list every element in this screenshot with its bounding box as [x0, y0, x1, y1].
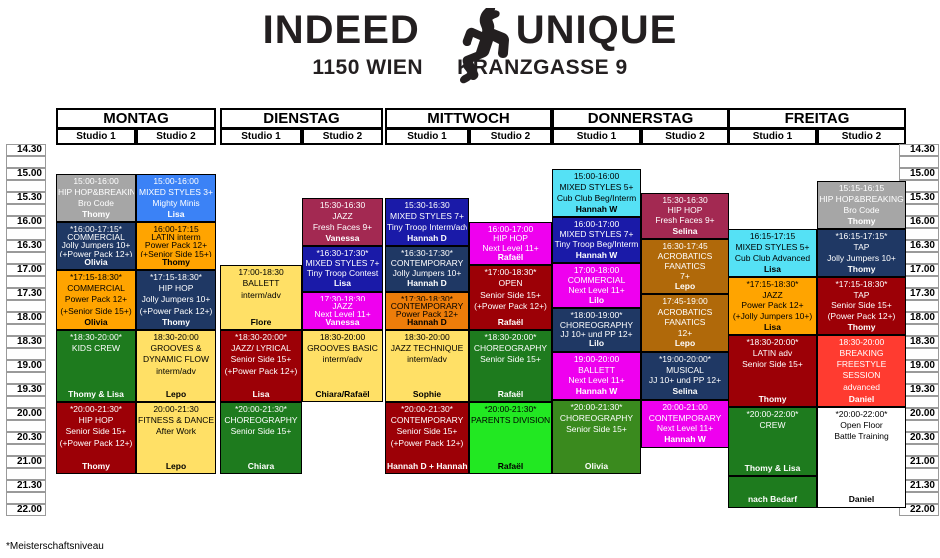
class-block[interactable]: 15:30-16:30HIP HOPFresh Faces 9+Selina: [641, 193, 729, 239]
time-label-21-30: 21.30: [6, 480, 46, 492]
time-label-19-30: 19.30: [6, 384, 46, 396]
class-time: 17:30-18:30: [304, 294, 381, 302]
class-block[interactable]: *20:00-21:30*CHOREOGRAPHYSenior Side 15+…: [552, 400, 641, 474]
class-teacher: Thomy: [819, 216, 904, 227]
class-title: COMMERCIAL: [58, 232, 134, 240]
class-teacher: Vanessa: [304, 233, 381, 244]
class-detail: (+Power Pack 12+): [138, 306, 214, 317]
class-block[interactable]: nach Bedarf: [728, 476, 817, 507]
class-detail: FANATICS: [643, 317, 727, 328]
class-time: *16:30-17:30*: [304, 248, 381, 258]
class-title: JAZZ: [304, 301, 381, 309]
class-detail: Jolly Jumpers 10+: [58, 240, 134, 248]
class-teacher: Chiara/Rafaël: [304, 389, 381, 400]
class-teacher: Lisa: [138, 209, 214, 220]
time-label-16-30: 16.30: [6, 240, 46, 252]
class-block[interactable]: *18:30-20:00*CHOREOGRAPHYSenior Side 15+…: [469, 330, 552, 402]
class-teacher: Lepo: [138, 389, 214, 400]
class-time: 18:30-20:00: [304, 332, 381, 343]
time-label-16-00: 16.00: [6, 216, 46, 228]
time-gap-cell: .: [6, 348, 46, 360]
class-time: 15:15-16:15: [819, 183, 904, 194]
class-title: KIDS CREW: [58, 343, 134, 354]
class-teacher: Lisa: [730, 264, 815, 275]
class-block[interactable]: *17:15-18:30*JAZZPower Pack 12+(+Jolly J…: [728, 277, 817, 335]
logo-title-left: INDEED: [263, 8, 420, 52]
class-teacher: Thomy: [58, 461, 134, 472]
class-block[interactable]: 16:00-17:00MIXED STYLES 7+Tiny Troop Beg…: [552, 217, 641, 263]
class-detail: (+Power Pack 12+): [471, 301, 550, 312]
time-gap-cell: .: [6, 156, 46, 168]
class-title: CONTEMPORARY: [643, 413, 727, 424]
class-block[interactable]: *20:00-22:00*CREWThomy & Lisa: [728, 407, 817, 477]
class-time: *20:00-22:00*: [819, 409, 904, 420]
time-label-18-30: 18.30: [6, 336, 46, 348]
class-block[interactable]: 17:45-19:00ACROBATICSFANATICS12+Lepo: [641, 294, 729, 352]
class-time: 19:00-20:00: [554, 354, 639, 365]
class-teacher: nach Bedarf: [730, 494, 815, 505]
class-time: *18:30-20:00*: [471, 332, 550, 343]
class-time: *19:00-20:00*: [643, 354, 727, 365]
class-title: HIP HOP&BREAKING: [819, 194, 904, 205]
studio-header-freitag-studio1: Studio 1: [728, 128, 817, 145]
time-label-14-30: 14.30: [6, 144, 46, 156]
class-time: *16:00-17:15*: [58, 224, 134, 232]
class-detail: JJ 10+ und PP 12+: [643, 375, 727, 386]
class-detail: JJ 10+ und PP 12+: [554, 329, 639, 338]
class-time: *17:00-18:30*: [471, 267, 550, 278]
class-title: JAZZ TECHNIQUE: [387, 343, 467, 354]
class-title: TAP: [819, 290, 904, 301]
schedule-page: INDEEDUNIQUE 1150 WIENKRANZGASSE 9 MONTA…: [0, 0, 940, 558]
class-title: GROOVES &: [138, 343, 214, 354]
class-detail: Next Level 11+: [554, 285, 639, 295]
class-block[interactable]: 15:30-16:30JAZZFresh Faces 9+Vanessa: [302, 198, 383, 246]
class-detail: Senior Side 15+: [554, 424, 639, 435]
class-title: MIXED STYLES 7+: [304, 258, 381, 268]
class-detail: Senior Side 15+: [471, 290, 550, 301]
studio-header-donnerstag-studio1: Studio 1: [552, 128, 641, 145]
class-time: *17:15-18:30*: [58, 272, 134, 283]
class-title: HIP HOP: [643, 205, 727, 215]
class-teacher: Rafaël: [471, 389, 550, 400]
class-block[interactable]: 17:00-18:30BALLETTinterm/advFlore: [220, 265, 302, 330]
class-teacher: Thomy & Lisa: [58, 389, 134, 400]
class-time: *20:00-21:30*: [222, 404, 300, 415]
class-time: 16:00-17:15: [138, 224, 214, 232]
class-title: CHOREOGRAPHY: [554, 413, 639, 424]
class-time: *20:00-21:30*: [58, 404, 134, 415]
class-title: LATIN interm: [138, 232, 214, 240]
logo-address-city: 1150 WIEN: [312, 56, 423, 79]
class-title: Open Floor: [819, 420, 904, 431]
class-detail: Next Level 11+: [554, 375, 639, 386]
class-teacher: Thomy: [819, 264, 904, 275]
class-block[interactable]: 17:00-18:00COMMERCIALNext Level 11+Lilo: [552, 263, 641, 309]
class-block[interactable]: 17:30-18:30JAZZNext Level 11+Vanessa: [302, 292, 383, 330]
class-time: 16:00-17:00: [554, 219, 639, 229]
class-time: 18:30-20:00: [138, 332, 214, 343]
class-time: *18:30-20:00*: [222, 332, 300, 343]
studio-header-mittwoch-studio2: Studio 2: [469, 128, 552, 145]
class-detail: interm/adv: [138, 366, 214, 377]
class-block[interactable]: 20:00-21:30FITNESS & DANCEAfter WorkLepo: [136, 402, 216, 474]
class-time: 15:00-16:00: [58, 176, 134, 187]
class-title: GROOVES BASIC: [304, 343, 381, 354]
class-block[interactable]: 16:30-17:45ACROBATICSFANATICS7+Lepo: [641, 239, 729, 294]
class-time: *17:15-18:30*: [819, 279, 904, 290]
class-block[interactable]: 15:00-16:00MIXED STYLES 5+Cub Club Beg/I…: [552, 169, 641, 217]
class-detail: FREESTYLE: [819, 359, 904, 370]
class-block[interactable]: 18:30-20:00BREAKINGFREESTYLESESSIONadvan…: [817, 335, 906, 407]
class-block[interactable]: *17:15-18:30*HIP HOPJolly Jumpers 10+(+P…: [136, 270, 216, 330]
class-time: 20:00-21:00: [643, 402, 727, 413]
class-detail: Jolly Jumpers 10+: [138, 294, 214, 305]
class-teacher: Thomy: [58, 209, 134, 220]
class-time: *18:00-19:00*: [554, 310, 639, 319]
class-time: *20:00-21:30*: [387, 404, 467, 415]
class-block[interactable]: 18:30-20:00JAZZ TECHNIQUEinterm/advSophi…: [385, 330, 469, 402]
class-teacher: Hannah D: [387, 233, 467, 244]
class-title: JAZZ/ LYRICAL: [222, 343, 300, 354]
schedule-grid: MONTAGStudio 1Studio 2DIENSTAGStudio 1St…: [0, 108, 940, 540]
class-detail: 12+: [643, 328, 727, 339]
studio-header-montag-studio2: Studio 2: [136, 128, 216, 145]
class-teacher: Rafaël: [471, 461, 550, 472]
class-teacher: Thomy & Lisa: [730, 463, 815, 474]
class-teacher: Rafaël: [471, 317, 550, 328]
class-teacher: Daniel: [819, 394, 904, 405]
time-gap-cell: .: [899, 156, 939, 168]
class-time: 16:30-17:45: [643, 241, 727, 251]
class-block[interactable]: *19:00-20:00*MUSICALJJ 10+ und PP 12+Sel…: [641, 352, 729, 400]
day-header-donnerstag: DONNERSTAG: [552, 108, 729, 129]
class-time: 15:30-16:30: [387, 200, 467, 211]
class-teacher: Lepo: [643, 281, 727, 292]
time-gap-cell: .: [6, 276, 46, 288]
class-detail: Senior Side 15+: [387, 426, 467, 437]
class-time: 15:00-16:00: [138, 176, 214, 187]
class-detail: 7+: [643, 271, 727, 281]
class-teacher: Hannah D + Hannah W: [387, 461, 467, 472]
class-time: 15:00-16:00: [554, 171, 639, 182]
class-teacher: Flore: [222, 317, 300, 328]
footnote: *Meisterschaftsniveau: [6, 541, 104, 552]
class-block[interactable]: 16:00-17:00HIP HOPNext Level 11+Rafaël: [469, 222, 552, 265]
class-block[interactable]: *18:30-20:00*JAZZ/ LYRICALSenior Side 15…: [220, 330, 302, 402]
class-title: CONTEMPORARY: [387, 301, 467, 309]
time-gap-cell: .: [6, 396, 46, 408]
class-time: *18:30-20:00*: [730, 337, 815, 348]
time-gap-cell: .: [6, 420, 46, 432]
class-title: LATIN adv: [730, 348, 815, 359]
time-label-14-30: 14.30: [899, 144, 939, 156]
class-time: 16:15-17:15: [730, 231, 815, 242]
class-teacher: Selina: [643, 386, 727, 397]
class-block[interactable]: 16:15-17:15MIXED STYLES 5+Cub Club Advan…: [728, 229, 817, 277]
class-block[interactable]: *18:00-19:00*CHOREOGRAPHYJJ 10+ und PP 1…: [552, 308, 641, 351]
class-title: ACROBATICS: [643, 251, 727, 261]
class-detail: (+Power Pack 12+): [387, 438, 467, 449]
class-teacher: Rafaël: [471, 252, 550, 263]
time-gap-cell: .: [6, 180, 46, 192]
class-block[interactable]: *17:00-18:30*OPENSenior Side 15+(+Power …: [469, 265, 552, 330]
class-title: JAZZ: [730, 290, 815, 301]
class-teacher: Hannah D: [387, 317, 467, 328]
class-teacher: Lilo: [554, 338, 639, 349]
class-detail: Power Pack 12+: [387, 309, 467, 317]
studio-header-montag-studio1: Studio 1: [56, 128, 136, 145]
studio-header-donnerstag-studio2: Studio 2: [641, 128, 729, 145]
time-label-18-00: 18.00: [6, 312, 46, 324]
class-time: *20:00-21:30*: [554, 402, 639, 413]
class-block[interactable]: 18:30-20:00GROOVES &DYNAMIC FLOWinterm/a…: [136, 330, 216, 402]
class-detail: Mighty Minis: [138, 198, 214, 209]
class-title: FITNESS & DANCE: [138, 415, 214, 426]
class-title: JAZZ: [304, 211, 381, 222]
class-block[interactable]: *17:15-18:30*COMMERCIALPower Pack 12+(+S…: [56, 270, 136, 330]
class-detail: Tiny Troop Contest: [304, 268, 381, 278]
class-title: CONTEMPORARY: [387, 258, 467, 268]
class-teacher: Vanessa: [304, 317, 381, 328]
class-detail: (+Senior Side 15+): [58, 306, 134, 317]
time-gap-cell: .: [6, 492, 46, 504]
class-title: TAP: [819, 242, 904, 253]
class-time: *17:15-18:30*: [730, 279, 815, 290]
class-block[interactable]: 19:00-20:00BALLETTNext Level 11+Hannah W: [552, 352, 641, 400]
class-detail: Jolly Jumpers 10+: [819, 253, 904, 264]
class-block[interactable]: 20:00-21:00CONTEMPORARYNext Level 11+Han…: [641, 400, 729, 448]
class-teacher: Lilo: [554, 295, 639, 306]
class-block[interactable]: *20:00-21:30*CONTEMPORARYSenior Side 15+…: [385, 402, 469, 474]
time-label-15-30: 15.30: [6, 192, 46, 204]
studio-header-freitag-studio2: Studio 2: [817, 128, 906, 145]
class-teacher: Hannah W: [643, 434, 727, 445]
class-time: 20:00-21:30: [138, 404, 214, 415]
time-label-15-00: 15.00: [6, 168, 46, 180]
class-block[interactable]: 15:00-16:00HIP HOP&BREAKINGBro CodeThomy: [56, 174, 136, 222]
class-detail: interm/adv: [304, 354, 381, 365]
class-teacher: Lepo: [138, 461, 214, 472]
class-block[interactable]: *16:30-17:30*MIXED STYLES 7+Tiny Troop C…: [302, 246, 383, 292]
class-teacher: Thomy: [138, 257, 214, 268]
time-gap-cell: .: [6, 300, 46, 312]
time-gap-cell: .: [6, 252, 46, 264]
class-detail: SESSION: [819, 370, 904, 381]
class-teacher: Lisa: [304, 278, 381, 289]
class-title: MIXED STYLES 5+: [730, 242, 815, 253]
day-header-mittwoch: MITTWOCH: [385, 108, 552, 129]
class-detail: DYNAMIC FLOW: [138, 354, 214, 365]
class-detail: Bro Code: [819, 205, 904, 216]
time-label-17-30: 17.30: [6, 288, 46, 300]
class-detail: (Power Pack 12+): [819, 311, 904, 322]
class-detail: Power Pack 12+: [730, 300, 815, 311]
class-detail: interm/adv: [222, 290, 300, 301]
class-detail: (+Power Pack 12+): [58, 438, 134, 449]
class-teacher: Olivia: [554, 461, 639, 472]
class-teacher: Hannah W: [554, 204, 639, 215]
class-teacher: Hannah W: [554, 250, 639, 261]
class-title: OPEN: [471, 278, 550, 289]
class-title: MIXED STYLES 7+: [554, 229, 639, 239]
class-time: 15:30-16:30: [304, 200, 381, 211]
day-header-dienstag: DIENSTAG: [220, 108, 383, 129]
class-block[interactable]: *16:30-17:30*CONTEMPORARYJolly Jumpers 1…: [385, 246, 469, 292]
class-detail: Fresh Faces 9+: [643, 215, 727, 225]
class-teacher: Chiara: [222, 461, 300, 472]
time-label-20-00: 20.00: [6, 408, 46, 420]
class-time: *16:15-17:15*: [819, 231, 904, 242]
time-label-22-00: 22.00: [6, 504, 46, 516]
class-detail: Jolly Jumpers 10+: [387, 268, 467, 278]
class-detail: Senior Side 15+: [819, 300, 904, 311]
class-time: *20:00-22:00*: [730, 409, 815, 420]
class-block[interactable]: *17:30-18:30*CONTEMPORARYPower Pack 12+H…: [385, 292, 469, 330]
class-time: 15:30-16:30: [643, 195, 727, 205]
class-time: 17:00-18:30: [222, 267, 300, 278]
class-teacher: Daniel: [819, 494, 904, 505]
class-title: COMMERCIAL: [554, 275, 639, 285]
class-detail: Senior Side 15+: [471, 354, 550, 365]
class-detail: (+Senior Side 15+): [138, 249, 214, 257]
class-block[interactable]: *20:00-21:30*CHOREOGRAPHYSenior Side 15+…: [220, 402, 302, 474]
class-block[interactable]: *18:30-20:00*LATIN advSenior Side 15+Tho…: [728, 335, 817, 407]
class-detail: Next Level 11+: [471, 243, 550, 252]
class-block[interactable]: 15:15-16:15HIP HOP&BREAKINGBro CodeThomy: [817, 181, 906, 229]
class-teacher: Olivia: [58, 257, 134, 268]
class-detail: After Work: [138, 426, 214, 437]
time-gap-cell: .: [6, 228, 46, 240]
class-time: *16:30-17:30*: [387, 248, 467, 258]
studio-header-dienstag-studio2: Studio 2: [302, 128, 383, 145]
class-teacher: Olivia: [58, 317, 134, 328]
class-time: 16:00-17:00: [471, 224, 550, 233]
class-teacher: Lisa: [730, 322, 815, 333]
class-detail: (+Jolly Jumpers 10+): [730, 311, 815, 322]
class-title: BREAKING: [819, 348, 904, 359]
class-detail: Senior Side 15+: [58, 426, 134, 437]
time-label-17-00: 17.00: [6, 264, 46, 276]
class-title: BALLETT: [554, 365, 639, 376]
class-title: BALLETT: [222, 278, 300, 289]
class-detail: Power Pack 12+: [58, 294, 134, 305]
class-title: HIP HOP: [471, 233, 550, 242]
class-detail: Next Level 11+: [643, 423, 727, 434]
class-title: CONTEMPORARY: [387, 415, 467, 426]
class-block[interactable]: 15:30-16:30MIXED STYLES 7+Tiny Troop Int…: [385, 198, 469, 246]
time-label-15-00: 15.00: [899, 168, 939, 180]
class-title: HIP HOP: [138, 283, 214, 294]
class-teacher: Thomy: [730, 394, 815, 405]
class-title: MIXED STYLES 7+: [387, 211, 467, 222]
class-detail: (+Power Pack 12+): [58, 249, 134, 257]
class-block[interactable]: *20:00-21:30*HIP HOPSenior Side 15+(+Pow…: [56, 402, 136, 474]
class-block[interactable]: *20:00-22:00*Open FloorBattle TrainingDa…: [817, 407, 906, 508]
class-time: 17:45-19:00: [643, 296, 727, 307]
dancer-figure-icon: [443, 8, 521, 92]
time-gap-cell: .: [6, 468, 46, 480]
class-title: ACROBATICS: [643, 307, 727, 318]
class-detail: Fresh Faces 9+: [304, 222, 381, 233]
class-title: MUSICAL: [643, 365, 727, 376]
class-time: *17:15-18:30*: [138, 272, 214, 283]
time-label-20-30: 20.30: [6, 432, 46, 444]
class-block[interactable]: *16:00-17:15*COMMERCIALJolly Jumpers 10+…: [56, 222, 136, 270]
class-detail: advanced: [819, 382, 904, 393]
class-block[interactable]: *20:00-21:30*PARENTS DIVISIONRafaël: [469, 402, 552, 474]
studio-header-dienstag-studio1: Studio 1: [220, 128, 302, 145]
class-detail: interm/adv: [387, 354, 467, 365]
class-detail: Next Level 11+: [304, 309, 381, 317]
day-header-montag: MONTAG: [56, 108, 216, 129]
class-time: *20:00-21:30*: [471, 404, 550, 415]
class-block[interactable]: *16:15-17:15*TAPJolly Jumpers 10+Thomy: [817, 229, 906, 277]
class-time: *18:30-20:00*: [58, 332, 134, 343]
class-detail: FANATICS: [643, 261, 727, 271]
class-teacher: Hannah W: [554, 386, 639, 397]
class-detail: Power Pack 12+: [138, 240, 214, 248]
class-teacher: Thomy: [819, 322, 904, 333]
class-time: 18:30-20:00: [819, 337, 904, 348]
logo-title-right: UNIQUE: [516, 8, 678, 52]
class-time: 18:30-20:00: [387, 332, 467, 343]
class-detail: Tiny Troop Beg/Interm: [554, 239, 639, 249]
class-detail: Tiny Troop Interm/adv: [387, 222, 467, 233]
class-title: CHOREOGRAPHY: [471, 343, 550, 354]
class-detail: Cub Club Beg/Interm: [554, 193, 639, 204]
class-time: *17:30-18:30*: [387, 294, 467, 302]
class-title: MIXED STYLES 5+: [554, 182, 639, 193]
time-gap-cell: .: [6, 444, 46, 456]
class-block[interactable]: 18:30-20:00GROOVES BASICinterm/advChiara…: [302, 330, 383, 402]
class-teacher: Hannah D: [387, 278, 467, 289]
class-detail: Battle Training: [819, 431, 904, 442]
class-block[interactable]: *18:30-20:00*KIDS CREWThomy & Lisa: [56, 330, 136, 402]
class-title: CHOREOGRAPHY: [554, 320, 639, 329]
class-title: HIP HOP: [58, 415, 134, 426]
class-block[interactable]: 16:00-17:15LATIN intermPower Pack 12+(+S…: [136, 222, 216, 270]
class-teacher: Selina: [643, 226, 727, 237]
class-detail: Cub Club Advanced: [730, 253, 815, 264]
class-block[interactable]: *17:15-18:30*TAPSenior Side 15+(Power Pa…: [817, 277, 906, 335]
class-teacher: Lepo: [643, 338, 727, 349]
class-detail: Senior Side 15+: [730, 359, 815, 370]
day-header-freitag: FREITAG: [728, 108, 906, 129]
class-teacher: Sophie: [387, 389, 467, 400]
class-detail: Senior Side 15+: [222, 426, 300, 437]
class-title: PARENTS DIVISION: [471, 415, 550, 426]
class-detail: Senior Side 15+: [222, 354, 300, 365]
time-label-19-00: 19.00: [6, 360, 46, 372]
class-title: HIP HOP&BREAKING: [58, 187, 134, 198]
class-title: CREW: [730, 420, 815, 431]
studio-header-mittwoch-studio1: Studio 1: [385, 128, 469, 145]
class-title: CHOREOGRAPHY: [222, 415, 300, 426]
class-detail: (+Power Pack 12+): [222, 366, 300, 377]
class-block[interactable]: 15:00-16:00MIXED STYLES 3+Mighty MinisLi…: [136, 174, 216, 222]
class-time: 17:00-18:00: [554, 265, 639, 275]
class-teacher: Thomy: [138, 317, 214, 328]
class-teacher: Lisa: [222, 389, 300, 400]
class-title: COMMERCIAL: [58, 283, 134, 294]
time-gap-cell: .: [6, 372, 46, 384]
time-gap-cell: .: [6, 204, 46, 216]
time-label-21-00: 21.00: [6, 456, 46, 468]
class-title: MIXED STYLES 3+: [138, 187, 214, 198]
class-detail: Bro Code: [58, 198, 134, 209]
time-gap-cell: .: [6, 324, 46, 336]
